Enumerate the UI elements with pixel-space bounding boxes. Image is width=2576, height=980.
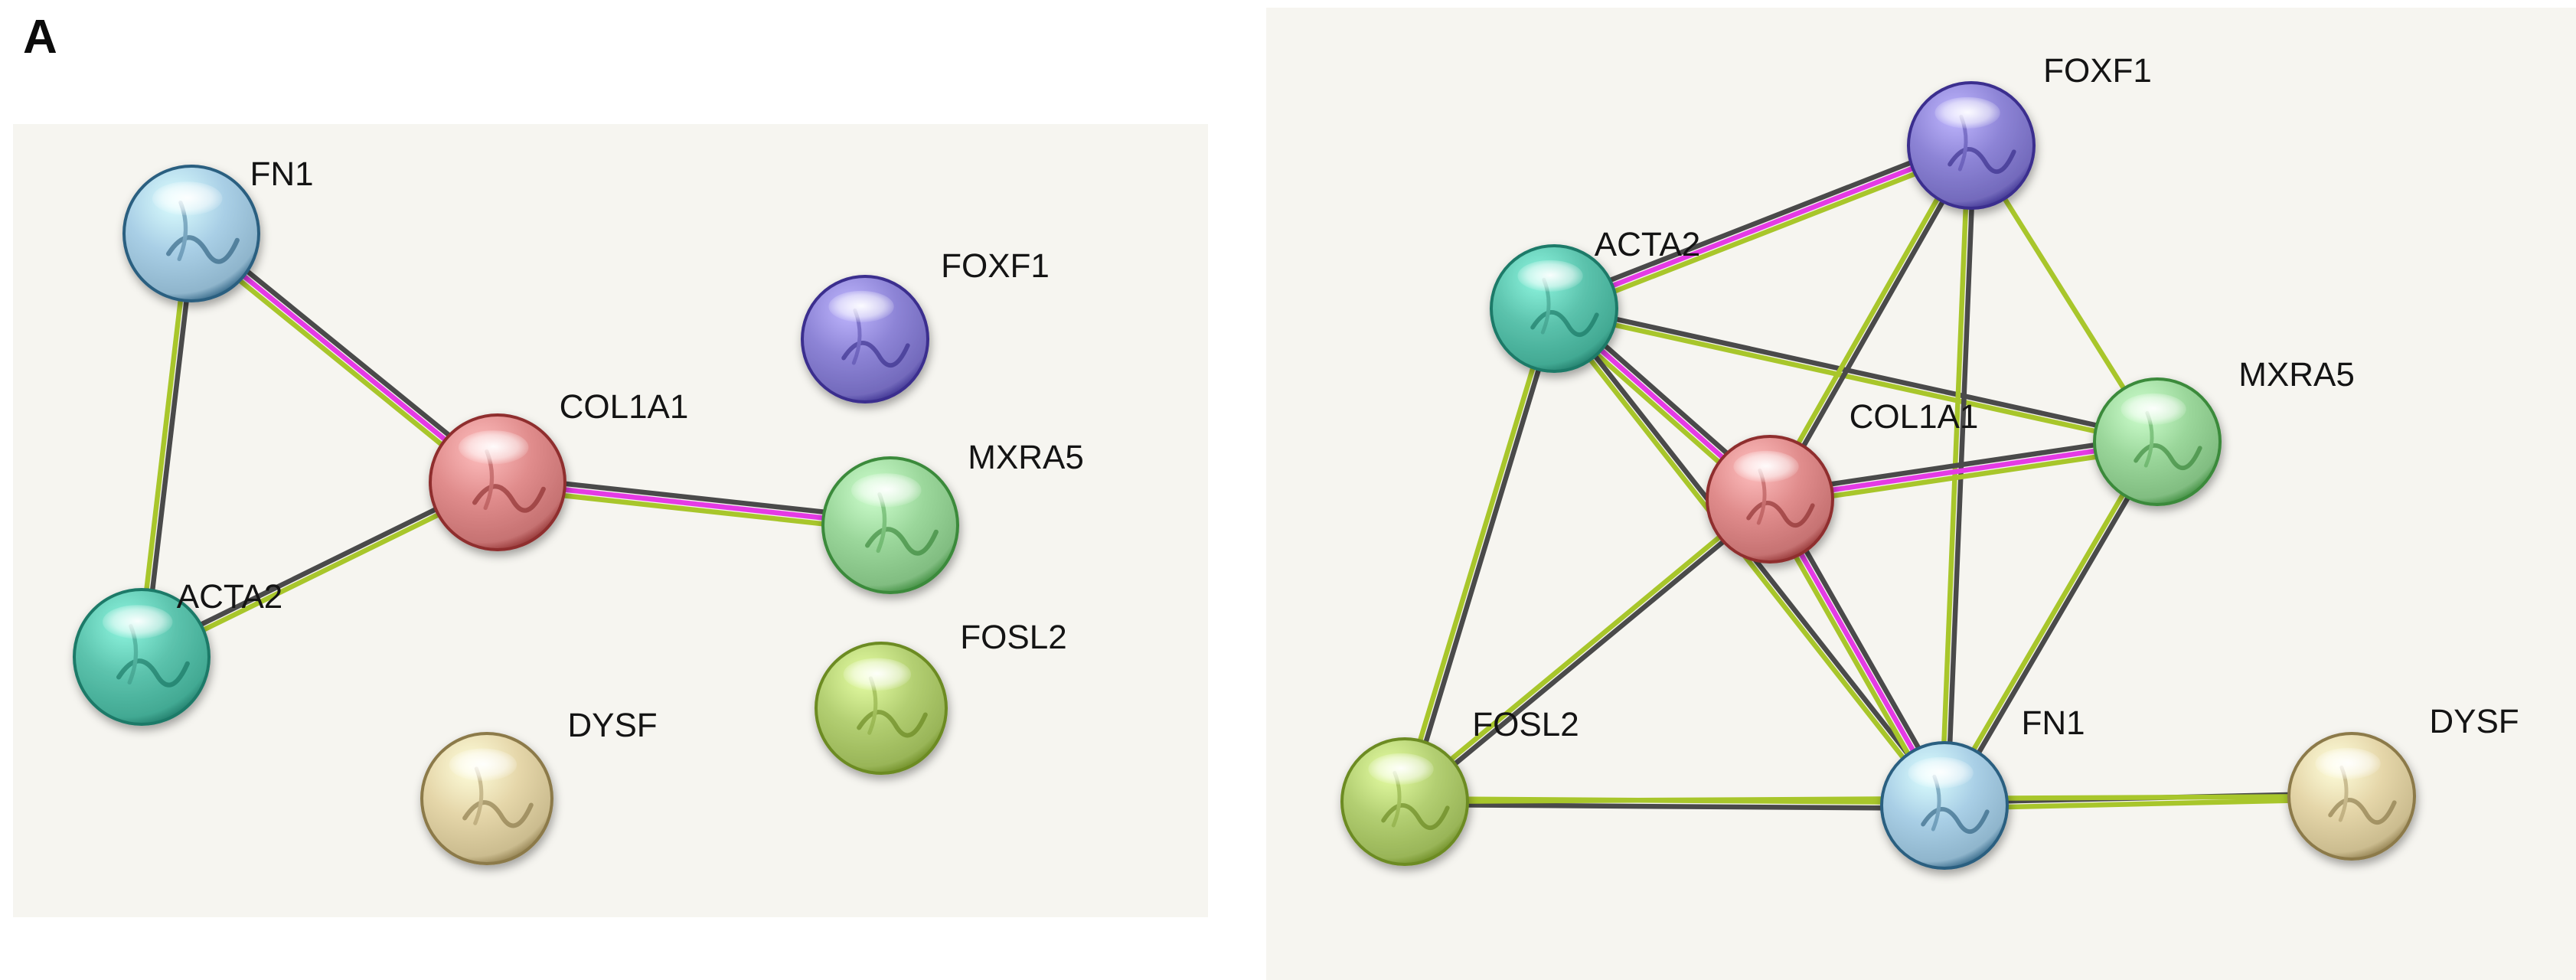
protein-node-fn1[interactable] xyxy=(1882,743,2007,868)
edge-col1a1-fosl2 xyxy=(1403,497,1772,804)
protein-node-fn1[interactable] xyxy=(124,166,259,301)
protein-node-col1a1[interactable] xyxy=(1707,436,1833,562)
node-label-acta2: ACTA2 xyxy=(177,580,283,614)
protein-node-foxf1[interactable] xyxy=(802,276,928,402)
interaction-graph-b xyxy=(1266,8,2576,980)
node-label-fn1: FN1 xyxy=(2021,707,2085,740)
node-label-mxra5: MXRA5 xyxy=(968,441,1084,475)
protein-node-fosl2[interactable] xyxy=(816,643,946,773)
node-label-foxf1: FOXF1 xyxy=(941,250,1050,283)
node-label-foxf1: FOXF1 xyxy=(2043,54,2152,88)
node-label-fosl2: FOSL2 xyxy=(960,621,1066,655)
node-label-col1a1: COL1A1 xyxy=(560,390,689,424)
node-label-fn1: FN1 xyxy=(250,158,313,191)
panel-letter-a: A xyxy=(23,14,57,61)
protein-node-mxra5[interactable] xyxy=(2094,379,2220,505)
node-label-dysf: DYSF xyxy=(567,709,657,743)
protein-node-col1a1[interactable] xyxy=(430,415,565,550)
node-label-col1a1: COL1A1 xyxy=(1850,400,1979,434)
node-label-dysf: DYSF xyxy=(2429,705,2519,739)
network-panel-b xyxy=(1266,8,2576,980)
string-network-figure: AFN1ACTA2COL1A1FOXF1MXRA5FOSL2DYSFBACTA2… xyxy=(0,0,2576,980)
interaction-graph-a xyxy=(13,124,1208,917)
protein-node-acta2[interactable] xyxy=(1491,246,1617,371)
protein-node-dysf[interactable] xyxy=(422,733,552,864)
protein-node-fosl2[interactable] xyxy=(1342,739,1468,864)
node-label-acta2: ACTA2 xyxy=(1595,228,1701,262)
protein-node-foxf1[interactable] xyxy=(1908,83,2034,208)
node-label-fosl2: FOSL2 xyxy=(1472,708,1579,742)
network-panel-a xyxy=(13,124,1208,917)
protein-node-mxra5[interactable] xyxy=(823,458,958,593)
node-label-mxra5: MXRA5 xyxy=(2238,358,2355,392)
protein-node-dysf[interactable] xyxy=(2289,733,2414,859)
